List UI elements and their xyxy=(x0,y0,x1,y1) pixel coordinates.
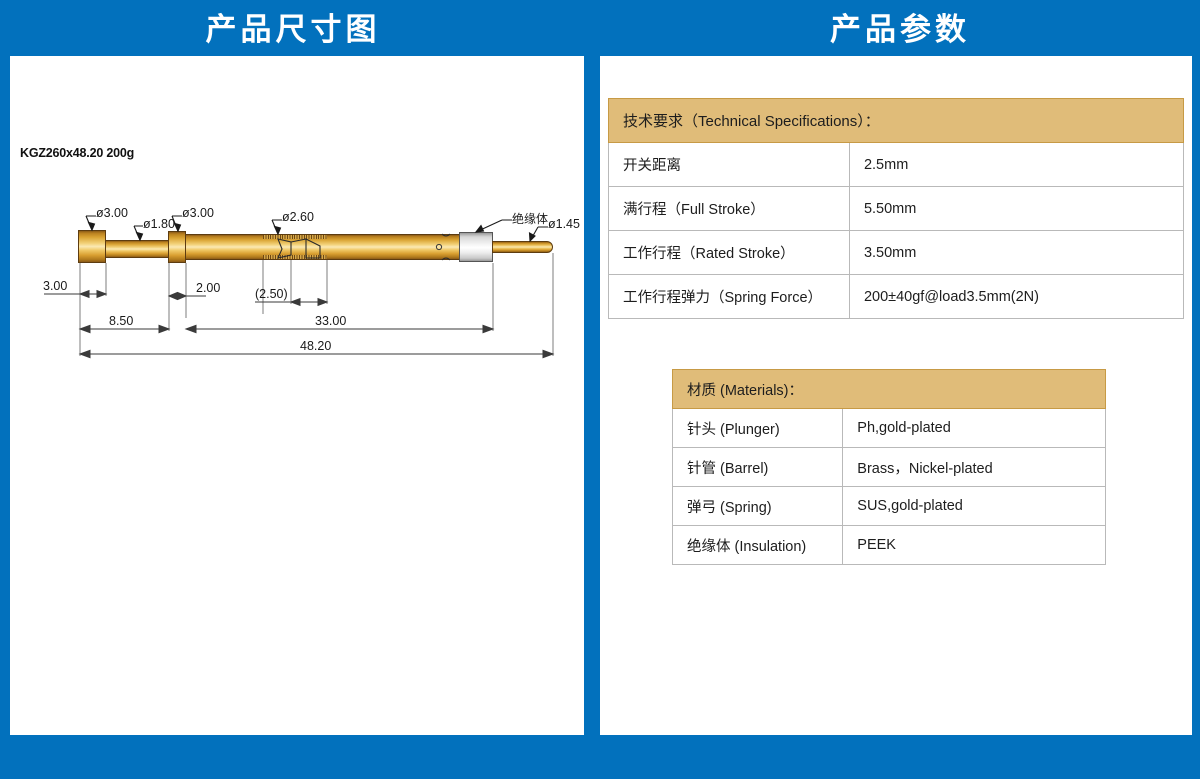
table-row: 针头 (Plunger) Ph,gold-plated xyxy=(673,409,1106,448)
material-value: Ph,gold-plated xyxy=(843,409,1106,448)
dimension-2-50: (2.50) xyxy=(255,287,288,301)
callout-insulator-label: 绝缘体 xyxy=(512,210,548,227)
spec-name: 开关距离 xyxy=(609,143,850,187)
table-row: 弹弓 (Spring) SUS,gold-plated xyxy=(673,487,1106,526)
product-spec-sheet: 产品尺寸图 产品参数 KGZ260x48.20 200g xyxy=(0,0,1200,779)
material-name: 针头 (Plunger) xyxy=(673,409,843,448)
materials-table: 材质 (Materials)： 针头 (Plunger) Ph,gold-pla… xyxy=(672,369,1106,565)
parameters-panel: 技术要求（Technical Specifications）： 开关距离 2.5… xyxy=(600,56,1192,735)
material-name: 弹弓 (Spring) xyxy=(673,487,843,526)
callout-diameter-5: ø1.45 xyxy=(548,217,580,231)
spec-table-header: 技术要求（Technical Specifications）： xyxy=(609,99,1184,143)
drawing-annotations xyxy=(10,56,584,735)
table-row: 工作行程（Rated Stroke） 3.50mm xyxy=(609,231,1184,275)
spec-name: 工作行程（Rated Stroke） xyxy=(609,231,850,275)
dimension-8-50: 8.50 xyxy=(109,314,133,328)
table-row: 开关距离 2.5mm xyxy=(609,143,1184,187)
material-value: PEEK xyxy=(843,526,1106,565)
right-panel-title: 产品参数 xyxy=(600,0,1200,52)
callout-diameter-4: ø2.60 xyxy=(282,210,314,224)
table-row: 工作行程弹力（Spring Force） 200±40gf@load3.5mm(… xyxy=(609,275,1184,319)
dimension-2-00: 2.00 xyxy=(196,281,220,295)
materials-table-header: 材质 (Materials)： xyxy=(673,370,1106,409)
table-header-row: 材质 (Materials)： xyxy=(673,370,1106,409)
probe-technical-drawing: KGZ260x48.20 200g xyxy=(10,56,584,735)
material-value: Brass，Nickel-plated xyxy=(843,448,1106,487)
spec-value: 3.50mm xyxy=(849,231,1183,275)
material-value: SUS,gold-plated xyxy=(843,487,1106,526)
material-name: 针管 (Barrel) xyxy=(673,448,843,487)
table-row: 针管 (Barrel) Brass，Nickel-plated xyxy=(673,448,1106,487)
table-header-row: 技术要求（Technical Specifications）： xyxy=(609,99,1184,143)
dimension-drawing-panel: KGZ260x48.20 200g xyxy=(10,56,584,735)
callout-diameter-2: ø1.80 xyxy=(143,217,175,231)
callout-diameter-1: ø3.00 xyxy=(96,206,128,220)
spec-name: 满行程（Full Stroke） xyxy=(609,187,850,231)
dimension-33-00: 33.00 xyxy=(315,314,346,328)
table-row: 绝缘体 (Insulation) PEEK xyxy=(673,526,1106,565)
table-row: 满行程（Full Stroke） 5.50mm xyxy=(609,187,1184,231)
material-name: 绝缘体 (Insulation) xyxy=(673,526,843,565)
technical-specifications-table: 技术要求（Technical Specifications）： 开关距离 2.5… xyxy=(608,98,1184,319)
spec-name: 工作行程弹力（Spring Force） xyxy=(609,275,850,319)
spec-value: 5.50mm xyxy=(849,187,1183,231)
spec-value: 2.5mm xyxy=(849,143,1183,187)
callout-diameter-3: ø3.00 xyxy=(182,206,214,220)
dimension-3-00: 3.00 xyxy=(43,279,67,293)
left-panel-title: 产品尺寸图 xyxy=(0,0,586,52)
spec-value: 200±40gf@load3.5mm(2N) xyxy=(849,275,1183,319)
dimension-48-20: 48.20 xyxy=(300,339,331,353)
